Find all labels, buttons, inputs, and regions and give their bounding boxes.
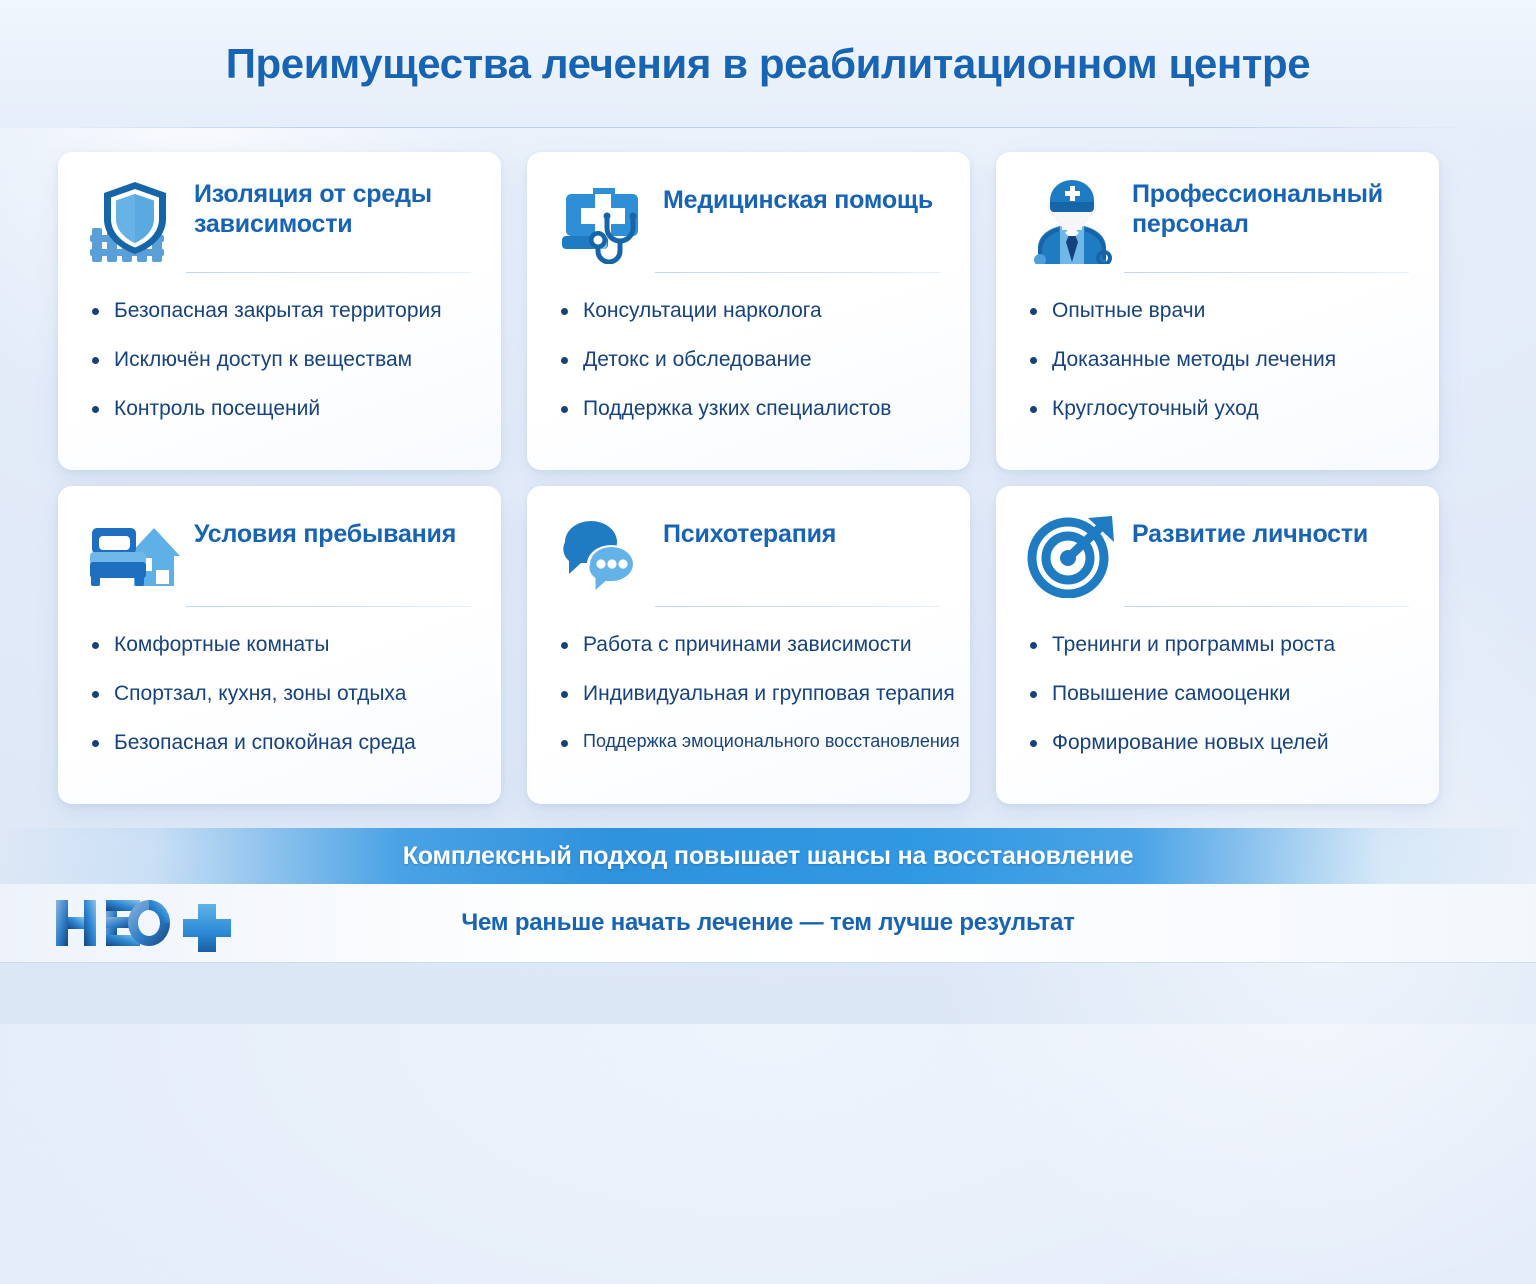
list-item: Детокс и обследование bbox=[557, 348, 940, 373]
card-title: Условия пребывания bbox=[194, 512, 456, 550]
card-bullet-list: Комфортные комнаты Спортзал, кухня, зоны… bbox=[88, 633, 471, 755]
bullet-dot-icon bbox=[561, 740, 568, 747]
doctor-icon bbox=[1026, 178, 1118, 264]
card-bullet-list: Тренинги и программы роста Повышение сам… bbox=[1026, 633, 1409, 755]
list-item-label: Индивидуальная и групповая терапия bbox=[583, 682, 955, 705]
list-item: Круглосуточный уход bbox=[1026, 397, 1409, 422]
bullet-dot-icon bbox=[561, 691, 568, 698]
card-header: Изоляция от среды зависимости bbox=[88, 178, 471, 264]
list-item: Доказанные методы лечения bbox=[1026, 348, 1409, 373]
list-item-label: Консультации нарколога bbox=[583, 299, 822, 322]
list-item: Повышение самооценки bbox=[1026, 682, 1409, 707]
card-divider bbox=[655, 272, 940, 273]
bullet-dot-icon bbox=[561, 308, 568, 315]
list-item-label: Поддержка эмоционального восстановления bbox=[583, 731, 960, 751]
bullet-dot-icon bbox=[1030, 357, 1037, 364]
card-title: Изоляция от среды зависимости bbox=[194, 178, 471, 239]
benefit-card-psychotherapy[interactable]: Психотерапия Работа с причинами зависимо… bbox=[527, 486, 970, 804]
list-item-label: Детокс и обследование bbox=[583, 348, 812, 371]
list-item: Исключён доступ к веществам bbox=[88, 348, 471, 373]
list-item: Работа с причинами зависимости bbox=[557, 633, 940, 658]
footer-tagline: Чем раньше начать лечение — тем лучше ре… bbox=[0, 909, 1536, 937]
list-item: Спортзал, кухня, зоны отдыха bbox=[88, 682, 471, 707]
target-arrow-icon bbox=[1026, 512, 1118, 598]
page-header: Преимущества лечения в реабилитационном … bbox=[0, 0, 1536, 128]
card-title: Развитие личности bbox=[1132, 512, 1368, 550]
list-item: Контроль посещений bbox=[88, 397, 471, 422]
list-item: Консультации нарколога bbox=[557, 299, 940, 324]
list-item-label: Опытные врачи bbox=[1052, 299, 1205, 322]
list-item: Индивидуальная и групповая терапия bbox=[557, 682, 940, 707]
bed-house-icon bbox=[88, 512, 180, 598]
list-item-label: Тренинги и программы роста bbox=[1052, 633, 1335, 656]
medical-kit-stethoscope-icon bbox=[557, 178, 649, 264]
card-title: Профессиональный персонал bbox=[1132, 178, 1409, 239]
card-bullet-list: Безопасная закрытая территория Исключён … bbox=[88, 299, 471, 421]
footer-banner-text: Комплексный подход повышает шансы на вос… bbox=[403, 842, 1134, 871]
card-divider bbox=[186, 272, 471, 273]
card-header: Профессиональный персонал bbox=[1026, 178, 1409, 264]
card-header: Развитие личности bbox=[1026, 512, 1409, 598]
bullet-dot-icon bbox=[92, 357, 99, 364]
bullet-dot-icon bbox=[92, 308, 99, 315]
list-item: Безопасная закрытая территория bbox=[88, 299, 471, 324]
benefit-card-personal-growth[interactable]: Развитие личности Тренинги и программы р… bbox=[996, 486, 1439, 804]
list-item-label: Повышение самооценки bbox=[1052, 682, 1290, 705]
bullet-dot-icon bbox=[561, 406, 568, 413]
card-divider bbox=[186, 606, 471, 607]
card-title: Психотерапия bbox=[663, 512, 836, 550]
bullet-dot-icon bbox=[92, 642, 99, 649]
card-header: Медицинская помощь bbox=[557, 178, 940, 264]
card-bullet-list: Работа с причинами зависимости Индивидуа… bbox=[557, 633, 940, 752]
list-item-label: Круглосуточный уход bbox=[1052, 397, 1259, 420]
list-item: Комфортные комнаты bbox=[88, 633, 471, 658]
benefit-card-isolation[interactable]: Изоляция от среды зависимости Безопасная… bbox=[58, 152, 501, 470]
benefit-card-medical-help[interactable]: Медицинская помощь Консультации нарколог… bbox=[527, 152, 970, 470]
list-item: Безопасная и спокойная среда bbox=[88, 731, 471, 756]
bullet-dot-icon bbox=[1030, 406, 1037, 413]
speech-bubbles-icon bbox=[557, 512, 649, 598]
card-divider bbox=[1124, 606, 1409, 607]
bullet-dot-icon bbox=[1030, 740, 1037, 747]
card-header: Условия пребывания bbox=[88, 512, 471, 598]
card-bullet-list: Консультации нарколога Детокс и обследов… bbox=[557, 299, 940, 421]
list-item-label: Комфортные комнаты bbox=[114, 633, 329, 656]
footer-strip: Чем раньше начать лечение — тем лучше ре… bbox=[0, 884, 1536, 962]
bullet-dot-icon bbox=[561, 357, 568, 364]
list-item: Формирование новых целей bbox=[1026, 731, 1409, 756]
benefit-card-professional-staff[interactable]: Профессиональный персонал Опытные врачи … bbox=[996, 152, 1439, 470]
page-title: Преимущества лечения в реабилитационном … bbox=[226, 40, 1311, 88]
card-header: Психотерапия bbox=[557, 512, 940, 598]
list-item-label: Контроль посещений bbox=[114, 397, 320, 420]
list-item: Поддержка эмоционального восстановления bbox=[557, 731, 940, 752]
bullet-dot-icon bbox=[561, 642, 568, 649]
shield-fence-icon bbox=[88, 178, 180, 264]
benefits-grid: Изоляция от среды зависимости Безопасная… bbox=[58, 152, 1478, 804]
bullet-dot-icon bbox=[1030, 642, 1037, 649]
card-title: Медицинская помощь bbox=[663, 178, 933, 216]
list-item: Опытные врачи bbox=[1026, 299, 1409, 324]
list-item: Поддержка узких специалистов bbox=[557, 397, 940, 422]
card-divider bbox=[1124, 272, 1409, 273]
list-item-label: Исключён доступ к веществам bbox=[114, 348, 412, 371]
list-item-label: Безопасная и спокойная среда bbox=[114, 731, 416, 754]
list-item: Тренинги и программы роста bbox=[1026, 633, 1409, 658]
bullet-dot-icon bbox=[92, 691, 99, 698]
list-item-label: Формирование новых целей bbox=[1052, 731, 1329, 754]
bullet-dot-icon bbox=[92, 406, 99, 413]
list-item-label: Работа с причинами зависимости bbox=[583, 633, 912, 656]
list-item-label: Поддержка узких специалистов bbox=[583, 397, 891, 420]
bullet-dot-icon bbox=[1030, 308, 1037, 315]
list-item-label: Доказанные методы лечения bbox=[1052, 348, 1336, 371]
list-item-label: Спортзал, кухня, зоны отдыха bbox=[114, 682, 406, 705]
benefit-card-living-conditions[interactable]: Условия пребывания Комфортные комнаты Сп… bbox=[58, 486, 501, 804]
card-bullet-list: Опытные врачи Доказанные методы лечения … bbox=[1026, 299, 1409, 421]
footer-banner: Комплексный подход повышает шансы на вос… bbox=[0, 828, 1536, 884]
bullet-dot-icon bbox=[1030, 691, 1037, 698]
card-divider bbox=[655, 606, 940, 607]
bullet-dot-icon bbox=[92, 740, 99, 747]
list-item-label: Безопасная закрытая территория bbox=[114, 299, 442, 322]
